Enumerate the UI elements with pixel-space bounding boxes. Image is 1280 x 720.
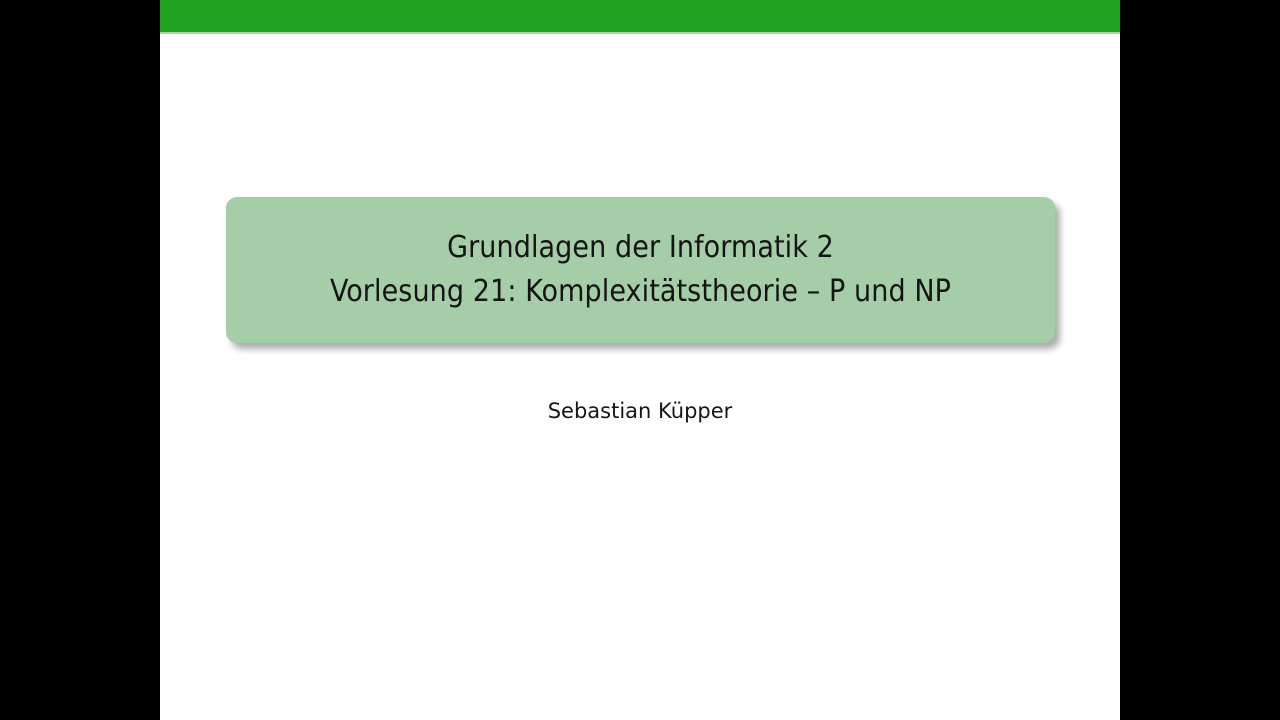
slide-title-box: Grundlagen der Informatik 2 Vorlesung 21… bbox=[226, 197, 1055, 343]
letterbox-bar-right bbox=[1120, 0, 1280, 720]
slide-header-bar bbox=[160, 0, 1120, 32]
video-player-frame: Grundlagen der Informatik 2 Vorlesung 21… bbox=[0, 0, 1280, 720]
slide-canvas: Grundlagen der Informatik 2 Vorlesung 21… bbox=[160, 0, 1120, 720]
slide-header-bar-underline bbox=[160, 32, 1120, 34]
slide-title-line-1: Grundlagen der Informatik 2 bbox=[447, 226, 834, 270]
letterbox-bar-left bbox=[0, 0, 160, 720]
slide-title-line-2: Vorlesung 21: Komplexitätstheorie – P un… bbox=[330, 270, 951, 314]
slide-author-name: Sebastian Küpper bbox=[160, 396, 1120, 426]
